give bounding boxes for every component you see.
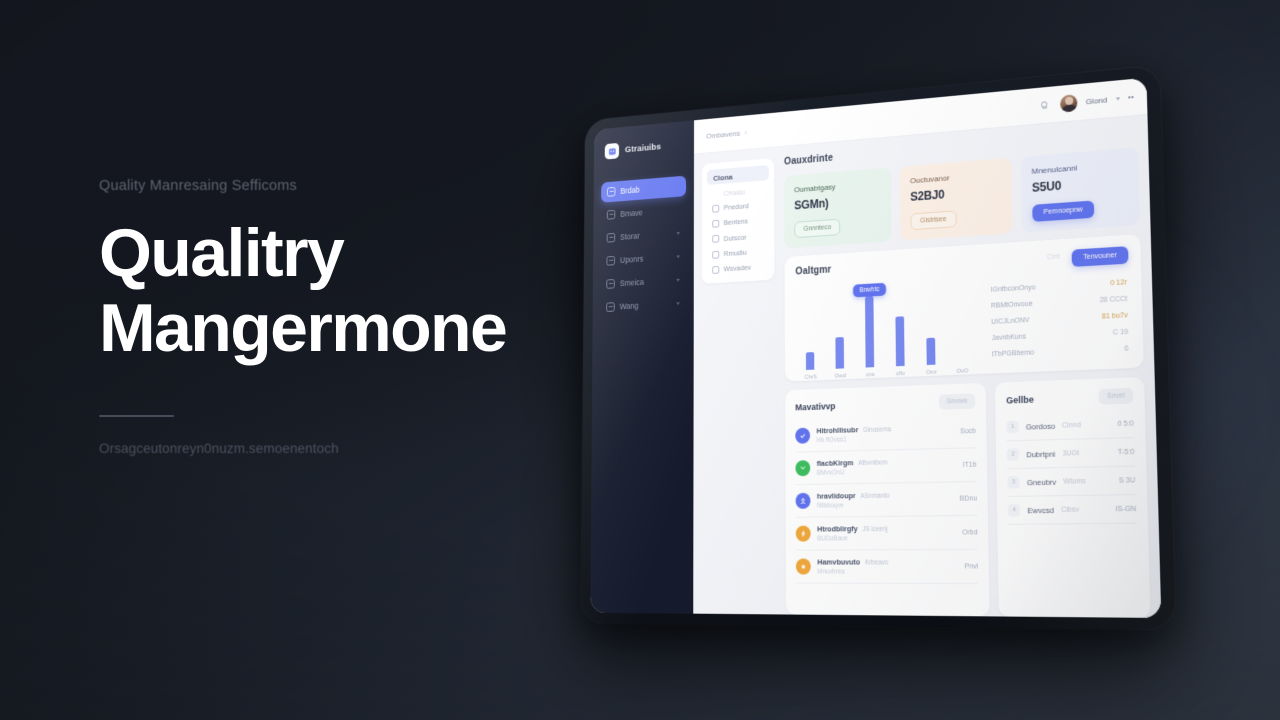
submenu-item-label: Rmudiu [724,248,747,258]
avatar [795,460,810,476]
queue-view-all-button[interactable]: Snvet [1099,388,1133,405]
topbar-actions: Glond [1037,88,1134,114]
submenu-panel: Clona Cfraido Pnedord Bentens Dutsco [702,158,775,284]
list-item-sub: BUDuBaue [817,535,955,543]
chevron-down-icon [676,255,679,258]
list-item[interactable]: flacbKirgm Afbvnibom BMvvOnU IT1b [795,448,976,485]
chevron-down-icon [676,278,679,281]
list-item-name: Hitrohllisubr [817,425,859,435]
stat-card-ouctuvanor[interactable]: Ouctuvanor S2BJ0 Gisbtsee [899,158,1012,241]
avatar [796,559,811,575]
stat-footer: Pemnoepnw [1032,195,1128,222]
stat-label: Oumabtgasy [794,179,881,194]
bar [896,316,905,366]
sidebar-item-brdab[interactable]: Brdab [601,176,686,203]
x-tick-label: OvO [947,368,978,375]
list-item[interactable]: 3 Gneubrv Wtoms S 3U [1007,467,1135,497]
list-item-value: IT1b [963,461,977,468]
user-name: Glond [1085,95,1107,106]
queue-item-label: Gneubrv [1027,477,1057,487]
queue-item-label: Gordoso [1026,421,1055,431]
submenu-item-label: Dutscor [724,233,747,243]
page-title: Qualitry Mangermone [99,220,569,361]
sidebar-item-bmave[interactable]: Bmave [601,199,686,226]
circle-3-icon: 3 [1008,476,1020,489]
list-item-meta: Afbvnibom [858,459,887,467]
list-item-body: Htrodblirgfy JS iceenj BUDuBaue [817,523,955,542]
hero-eyebrow: Quality Manresaing Sefficoms [99,178,569,194]
sidebar-item-label: Brdab [620,182,680,196]
stat-label: Ouctuvanor [910,169,1001,185]
stat-action-button[interactable]: Pemnoepnw [1032,200,1094,221]
message-icon [607,210,615,220]
bar-chart: Bnwhtc [796,277,979,373]
sidebar-item-label: Wang [620,299,671,311]
chart-title: Oaltgmr [795,265,831,278]
list-item-name: Htrodblirgfy [817,524,857,533]
card-icon [712,235,719,243]
brand[interactable]: Gtraiuibs [601,134,686,160]
search-icon[interactable] [1037,97,1052,113]
metric-label: UICJLnONV [991,317,1030,326]
main-column: Oauxdrinte Oumabtgasy SGMn) Gnnnteco [774,126,1161,618]
metric-value: 0 12r [1110,279,1127,287]
metric-label: tTbPGBbemo [992,349,1035,358]
stat-footer: Gisbtsee [910,204,1001,230]
list-item-body: Hitrohllisubr Glnusema Hb flOvss1 [817,422,954,444]
sidebar-item-uponrs[interactable]: Uponrs [601,246,686,272]
chevron-down-icon [676,302,679,305]
stat-card-oumabtgasy[interactable]: Oumabtgasy SGMn) Gnnnteco [784,167,892,248]
metric-label: IGnfbconOnyo [991,284,1036,294]
list-item[interactable]: Hamvbuvuto Krbeavo Mnuvbrea Pnvl [796,550,979,584]
queue-item-sub: Cinnd [1062,421,1081,429]
queue-item-label: Dubrtpni [1026,449,1055,459]
submenu-item-label: Wsvadev [724,263,751,273]
bar-slot[interactable]: Bnwhtc [855,296,886,368]
bar [806,352,814,370]
brand-name: Gtraiuibs [625,142,661,155]
tag-icon [606,279,614,289]
avatar [796,493,811,509]
list-item-meta: JS iceenj [862,526,887,533]
avatar [796,526,811,542]
x-tick-label: cflo [885,370,916,377]
metric-value: C 19 [1113,328,1129,336]
list-item-value: Socb [960,427,976,435]
app-body: Clona Cfraido Pnedord Bentens Dutsco [693,115,1161,618]
chart-range-label[interactable]: Cmt [1047,253,1060,261]
list-item[interactable]: hravlidoupr ASnmanto Ntlskuqve BDnu [796,482,978,518]
metric-label: RBMtOnvoue [991,300,1033,309]
list-item-meta: Krbeavo [865,559,888,566]
bottom-card-row: Mavativvp Smvwe Hitrohllis [785,377,1151,618]
tablet-device: Gtraiuibs Brdab Bmave Storar Upo [581,65,1176,630]
queue-card: Gellbe Snvet 1 Gordoso Cinnd 0 5:0 [995,377,1151,618]
user-icon [799,497,806,505]
list-item-value: Orbd [962,529,978,536]
stat-value: S2BJ0 [910,183,1001,204]
list-item-body: hravlidoupr ASnmanto Ntlskuqve [817,490,953,510]
hero-divider [99,415,174,417]
list-item-value: Pnvl [964,563,978,570]
calendar-icon [607,233,615,243]
bar [927,337,936,365]
circle-1-icon: 1 [1007,421,1019,434]
tablet-screen: Gtraiuibs Brdab Bmave Storar Upo [590,78,1161,618]
breadcrumb-separator: › [744,128,746,137]
submenu-item-label: Bentens [724,217,748,227]
breadcrumb[interactable]: Ombavens › [706,128,747,140]
chart-tooltip: Bnwhtc [853,283,886,298]
app-sidebar: Gtraiuibs Brdab Bmave Storar Upo [590,120,694,613]
chart-card: Oaltgmr Cmt Tenvouner [784,234,1143,381]
breadcrumb-item[interactable]: Ombavens [706,129,740,140]
queue-card-header: Gellbe Snvet [1006,388,1133,408]
list-item-body: flacbKirgm Afbvnibom BMvvOnU [817,456,956,477]
bar-slot[interactable] [915,292,947,365]
avatar [795,428,810,444]
list-item[interactable]: 2 Dubrtpni 3UGt T-5:0 [1007,438,1135,469]
circle-4-icon: 4 [1008,504,1020,517]
list-item-name: Hamvbuvuto [817,557,860,566]
list-item-meta: Glnusema [863,426,891,434]
app-content: Ombavens › Glond [693,78,1161,618]
list-item[interactable]: 1 Gordoso Cinnd 0 5:0 [1006,410,1134,442]
queue-item-value: IS-GN [1115,505,1136,513]
x-tick-label: Owd [825,373,855,380]
sidebar-item-wang[interactable]: Wang [600,292,686,317]
bar-slot[interactable] [885,294,916,367]
plus-square-icon [712,266,719,274]
bar-group: Bnwhtc [796,291,978,371]
star-icon [800,563,807,571]
queue-card-title: Gellbe [1006,394,1034,405]
book-icon [606,256,614,266]
sidebar-item-label: Storar [620,229,671,242]
x-tick-label: cns [855,372,885,379]
metric-list: IGnfbconOnyo 0 12r RBMtOnvoue 28 CCCt UI… [985,274,1131,365]
submenu-item-rmudiu[interactable]: Rmudiu [707,244,769,262]
bar-slot[interactable] [796,299,826,370]
logo-glyph-icon [608,146,616,156]
queue-item-sub: 3UGt [1062,449,1079,457]
x-axis: ChrS Owd cns cflo Onz OvO [796,368,978,381]
activity-card: Mavativvp Smvwe Hitrohllis [785,383,990,617]
list-item-body: Hamvbuvuto Krbeavo Mnuvbrea [817,557,957,576]
bar [836,337,845,369]
status-badge[interactable]: Gnnnteco [794,219,840,239]
hero-title-line-1: Qualitry [99,215,343,291]
x-tick-label: Onz [916,369,947,376]
metric-value: 6 [1124,345,1128,352]
list-item-sub: BMvvOnU [817,467,956,477]
bar [865,296,874,367]
stat-card-mnenulcanni[interactable]: Mnenulcanni S5U0 Pemnoepnw [1020,147,1140,232]
bolt-icon [799,530,806,538]
status-badge[interactable]: Gisbtsee [910,210,956,230]
archive-icon [712,220,719,228]
list-item-sub: Hb flOvss1 [817,434,954,445]
hero-section: Quality Manresaing Sefficoms Qualitry Ma… [99,178,569,456]
grid-icon [607,187,615,197]
activity-view-all-button[interactable]: Smvwe [939,393,976,409]
list-item-name: flacbKirgm [817,458,854,468]
metric-label: JavnbKuns [991,333,1026,342]
sidebar-item-smeica[interactable]: Smeica [600,269,686,295]
queue-item-value: 0 5:0 [1117,420,1134,428]
device-stage: Gtraiuibs Brdab Bmave Storar Upo [548,86,1248,656]
hero-title-line-2: Mangermone [99,295,569,362]
list-item[interactable]: Hitrohllisubr Glnusema Hb flOvss1 Socb [795,415,976,453]
leaf-icon [799,464,806,472]
chart-body: Bnwhtc [796,268,1131,373]
submenu-item-wsvadev[interactable]: Wsvadev [707,260,769,277]
queue-item-value: T-5:0 [1118,448,1135,456]
queue-item-label: Ewvcsd [1027,505,1054,515]
stat-footer: Gnnnteco [794,213,881,238]
metric-value: 81 bu7v [1102,312,1128,320]
queue-item-value: S 3U [1119,477,1136,485]
image-icon [712,250,719,258]
stat-value: SGMn) [794,192,881,212]
metric-value: 28 CCCt [1099,295,1127,304]
more-vertical-icon[interactable] [1128,96,1134,99]
list-item-value: BDnu [960,495,977,502]
list-item-sub: Mnuvbrea [817,569,957,576]
activity-card-header: Mavativvp Smvwe [795,393,975,414]
sidebar-item-label: Bmave [620,205,680,219]
bar-slot[interactable] [946,291,978,365]
check-icon [799,432,806,440]
chevron-down-icon[interactable] [1115,97,1119,100]
sidebar-item-label: Uponrs [620,252,671,265]
app-logo-icon [605,143,619,160]
sidebar-item-label: Smeica [620,276,671,288]
list-item[interactable]: Htrodblirgfy JS iceenj BUDuBaue Orbd [796,516,978,551]
sidebar-item-storar[interactable]: Storar [601,222,686,248]
activity-card-title: Mavativvp [795,401,835,412]
x-tick-label: ChrS [796,374,825,381]
list-item[interactable]: 4 Ewvcsd Cibsv IS-GN [1008,495,1136,525]
list-item-meta: ASnmanto [860,493,889,500]
queue-item-sub: Wtoms [1063,477,1086,485]
list-item-sub: Ntlskuqve [817,501,953,510]
circle-2-icon: 2 [1007,448,1019,461]
chart-action-button[interactable]: Tenvouner [1072,246,1129,267]
bar-slot[interactable] [825,297,855,369]
submenu-item-label: Pnedord [724,202,749,212]
avatar[interactable] [1060,94,1077,112]
inbox-icon [712,204,719,212]
layers-icon [606,302,615,312]
chevron-down-icon [677,231,680,234]
hero-subtitle: Orsagceutonreyn0nuzm.semoenentoch [99,441,569,456]
queue-item-sub: Cibsv [1061,506,1079,514]
list-item-name: hravlidoupr [817,491,856,501]
stat-label: Mnenulcanni [1031,159,1127,175]
stat-value: S5U0 [1032,174,1128,195]
